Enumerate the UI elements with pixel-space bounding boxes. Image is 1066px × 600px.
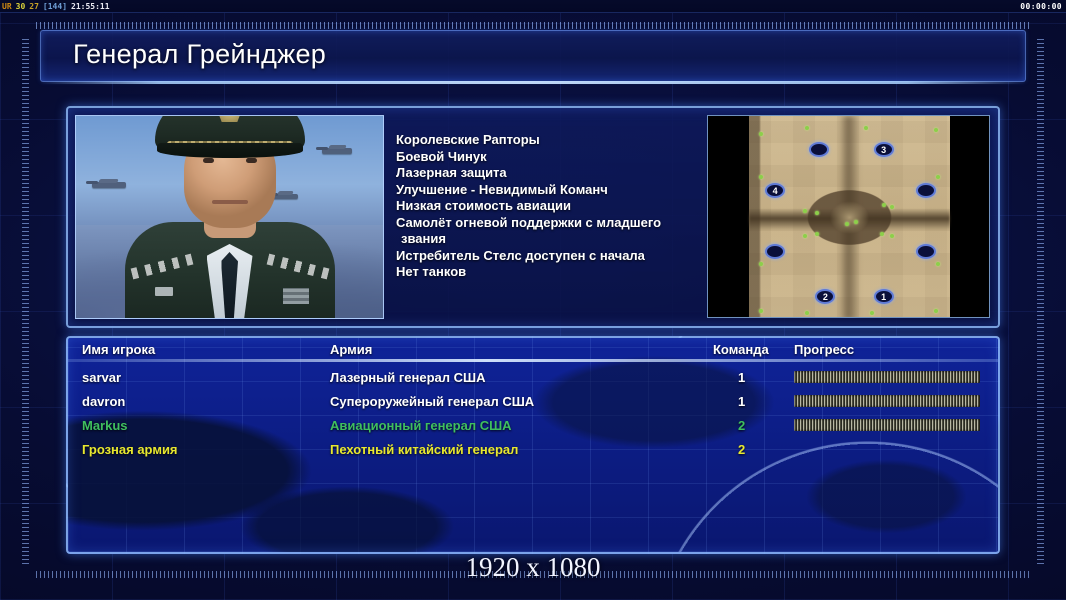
resource-marker <box>805 311 809 315</box>
start-position-marker: 2 <box>815 289 835 304</box>
rank-stars-right <box>266 254 329 280</box>
resource-marker <box>934 128 938 132</box>
resource-marker <box>759 132 763 136</box>
resource-marker <box>759 175 763 179</box>
start-position-marker <box>765 244 785 259</box>
column-header-army: Армия <box>330 342 372 357</box>
eye-right <box>246 158 257 163</box>
resource-marker <box>936 262 940 266</box>
page-title: Генерал Грейнджер <box>73 39 326 70</box>
ruler-ticks-top <box>36 22 1030 29</box>
player-row[interactable]: sarvarЛазерный генерал США1 <box>68 366 998 390</box>
bonus-line: Королевские Рапторы <box>396 132 726 149</box>
resource-marker <box>759 309 763 313</box>
player-name: davron <box>82 394 125 409</box>
map-center-basin <box>825 197 873 238</box>
resource-marker <box>882 203 886 207</box>
resource-marker <box>890 234 894 238</box>
player-row[interactable]: MarkusАвиационный генерал США2 <box>68 414 998 438</box>
start-position-marker <box>809 142 829 157</box>
player-army: Лазерный генерал США <box>330 370 485 385</box>
resource-marker <box>759 262 763 266</box>
player-list-panel: Имя игрока Армия Команда Прогресс sarvar… <box>66 336 1000 554</box>
minimap-frame[interactable]: 3421 <box>707 115 990 318</box>
minimap-image: 3421 <box>749 116 950 318</box>
player-team: 1 <box>738 394 745 409</box>
fps-bracket: [144] <box>41 0 69 13</box>
title-panel: Генерал Грейнджер <box>40 30 1026 82</box>
resource-marker <box>803 234 807 238</box>
player-name: sarvar <box>82 370 121 385</box>
player-name: Грозная армия <box>82 442 178 457</box>
start-position-marker <box>916 183 936 198</box>
resource-marker <box>854 220 858 224</box>
column-header-team: Команда <box>713 342 769 357</box>
start-position-marker: 1 <box>874 289 894 304</box>
eye-left <box>203 158 214 163</box>
general-bonus-list: Королевские Рапторы Боевой Чинук Лазерна… <box>396 132 726 281</box>
bonus-line: Лазерная защита <box>396 165 726 182</box>
player-name: Markus <box>82 418 128 433</box>
resolution-label: 1920 x 1080 <box>0 552 1066 583</box>
player-army: Авиационный генерал США <box>330 418 512 433</box>
player-list-header: Имя игрока Армия Команда Прогресс <box>68 338 998 362</box>
player-progress-bar <box>794 395 980 407</box>
column-header-name: Имя игрока <box>82 342 155 357</box>
player-team: 1 <box>738 370 745 385</box>
column-header-progress: Прогресс <box>794 342 854 357</box>
aircraft-silhouette <box>92 182 126 188</box>
rank-stars-left <box>130 254 193 280</box>
fps-extra: 27 <box>27 0 41 13</box>
player-army: Супероружейный генерал США <box>330 394 534 409</box>
game-lobby-screen: UR3027[144]21:55:11 00:00:00 Генерал Гре… <box>0 0 1066 600</box>
general-info-panel: Королевские Рапторы Боевой Чинук Лазерна… <box>66 106 1000 328</box>
resource-marker <box>934 309 938 313</box>
player-team: 2 <box>738 442 745 457</box>
ruler-ticks-left <box>22 36 29 564</box>
resource-marker <box>864 126 868 130</box>
cap-visor <box>157 143 303 158</box>
player-row[interactable]: davronСупероружейный генерал США1 <box>68 390 998 414</box>
ruler-ticks-right <box>1037 36 1044 564</box>
start-position-marker: 4 <box>765 183 785 198</box>
player-progress-bar <box>794 419 980 431</box>
start-position-marker <box>916 244 936 259</box>
bonus-line: Самолёт огневой поддержки с младшего <box>396 215 726 232</box>
session-time: 21:55:11 <box>69 0 112 13</box>
player-row[interactable]: Грозная армияПехотный китайский генерал2 <box>68 438 998 462</box>
resource-marker <box>880 232 884 236</box>
resource-marker <box>936 175 940 179</box>
bonus-line: Улучшение - Невидимый Команч <box>396 182 726 199</box>
bonus-line: Истребитель Стелс доступен с начала <box>396 248 726 265</box>
bonus-line-continuation: звания <box>396 231 726 248</box>
player-progress-bar <box>794 371 980 383</box>
player-team: 2 <box>738 418 745 433</box>
bonus-line: Нет танков <box>396 264 726 281</box>
service-ribbons <box>283 288 309 304</box>
us-insignia <box>155 287 173 296</box>
start-position-marker: 3 <box>874 142 894 157</box>
fps-label: UR <box>0 0 14 13</box>
player-army: Пехотный китайский генерал <box>330 442 518 457</box>
resource-marker <box>870 311 874 315</box>
general-portrait <box>75 115 384 319</box>
fps-value: 30 <box>14 0 28 13</box>
mouth <box>212 200 248 204</box>
resource-marker <box>815 232 819 236</box>
general-figure <box>125 115 335 318</box>
bonus-line: Боевой Чинук <box>396 149 726 166</box>
top-status-bar: UR3027[144]21:55:11 00:00:00 <box>0 0 1066 13</box>
bonus-line: Низкая стоимость авиации <box>396 198 726 215</box>
resource-marker <box>805 126 809 130</box>
game-clock: 00:00:00 <box>1020 0 1062 13</box>
